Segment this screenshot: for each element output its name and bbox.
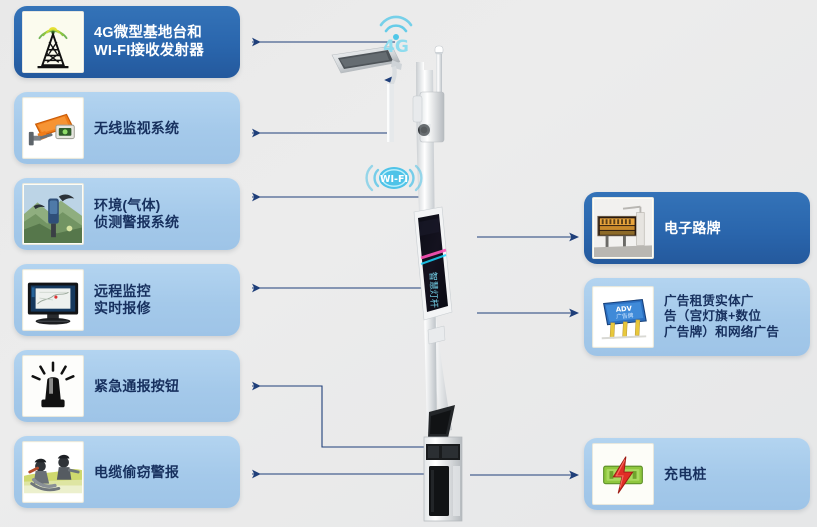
- card-emergency-button-line1: 紧急通报按钮: [94, 378, 179, 395]
- charging-bolt-icon: [592, 443, 654, 505]
- svg-text:智慧灯杆: 智慧灯杆: [427, 272, 440, 308]
- card-advertising-label: 广告租赁实体广 告（宫灯旗+数位 广告牌）和网络广告: [664, 294, 785, 341]
- badge-wifi: WI-FI: [356, 158, 432, 198]
- svg-text:ADV: ADV: [616, 305, 633, 314]
- antenna-rod: [435, 46, 443, 110]
- led-billboard-icon: [592, 197, 654, 259]
- card-wireless-surveillance-label: 无线监视系统: [94, 120, 185, 137]
- card-4g-wifi-line2: WI-FI接收发射器: [94, 42, 204, 60]
- card-advertising-line1: 广告租赁实体广: [664, 294, 779, 310]
- card-4g-wifi[interactable]: 4G微型基地台和 WI-FI接收发射器: [14, 6, 240, 78]
- card-remote-monitoring-line1: 远程监控: [94, 283, 151, 300]
- card-remote-monitoring-line2: 实时报修: [94, 300, 151, 317]
- monitor-map-icon: [22, 269, 84, 331]
- badge-wifi-label: WI-FI: [380, 174, 408, 185]
- wire-to-card-remote: [252, 197, 424, 288]
- card-emergency-button-label: 紧急通报按钮: [94, 378, 185, 395]
- card-cable-theft-alarm[interactable]: 电缆偷窃警报: [14, 436, 240, 508]
- camera-enclosure: [413, 92, 444, 142]
- card-advertising-line3: 广告牌）和网络广告: [664, 325, 779, 341]
- alarm-beacon-icon: [22, 355, 84, 417]
- card-4g-wifi-line1: 4G微型基地台和: [94, 24, 204, 42]
- cell-tower-icon: [22, 11, 84, 73]
- base-cabinet: [424, 437, 462, 521]
- street-lamp-head: [332, 46, 402, 142]
- card-electronic-sign-label: 电子路牌: [664, 220, 727, 237]
- card-wireless-surveillance-line1: 无线监视系统: [94, 120, 179, 137]
- card-charging-pile-label: 充电桩: [664, 466, 713, 483]
- card-wireless-surveillance[interactable]: 无线监视系统: [14, 92, 240, 164]
- card-remote-monitoring[interactable]: 远程监控 实时报修: [14, 264, 240, 336]
- diagram-canvas: 智慧灯杆 4G: [0, 0, 817, 527]
- solar-panel: [428, 405, 455, 438]
- card-advertising-line2: 告（宫灯旗+数位: [664, 309, 779, 325]
- pole-mast: [416, 62, 452, 432]
- wifi-signal-icon: [381, 17, 411, 31]
- adv-board-icon: ADV 广告牌: [592, 286, 654, 348]
- card-environment-gas[interactable]: 环境(气体) 侦测警报系统: [14, 178, 240, 250]
- card-advertising[interactable]: ADV 广告牌 广告租赁实体广 告（宫灯旗+数位 广告牌）和网络广告: [584, 278, 810, 356]
- badge-4g: 4G: [374, 12, 418, 54]
- environment-sensor-icon: [22, 183, 84, 245]
- card-4g-wifi-label: 4G微型基地台和 WI-FI接收发射器: [94, 24, 210, 60]
- pole-mid-bracket: [428, 326, 445, 344]
- vertical-led-display: 智慧灯杆: [414, 207, 452, 320]
- card-environment-gas-label: 环境(气体) 侦测警报系统: [94, 197, 185, 231]
- card-remote-monitoring-label: 远程监控 实时报修: [94, 283, 157, 317]
- card-emergency-button[interactable]: 紧急通报按钮: [14, 350, 240, 422]
- card-cable-theft-alarm-label: 电缆偷窃警报: [94, 464, 185, 481]
- badge-4g-label: 4G: [383, 37, 409, 54]
- card-charging-pile[interactable]: 充电桩: [584, 438, 810, 510]
- wire-to-card-emergency: [252, 386, 432, 447]
- cable-thief-icon: [22, 441, 84, 503]
- card-electronic-sign[interactable]: 电子路牌: [584, 192, 810, 264]
- pole-column: [418, 70, 437, 432]
- cctv-camera-icon: [22, 97, 84, 159]
- card-environment-gas-line1: 环境(气体): [94, 197, 179, 214]
- card-electronic-sign-line1: 电子路牌: [664, 220, 721, 237]
- card-charging-pile-line1: 充电桩: [664, 466, 707, 483]
- card-cable-theft-alarm-line1: 电缆偷窃警报: [94, 464, 179, 481]
- card-environment-gas-line2: 侦测警报系统: [94, 214, 179, 231]
